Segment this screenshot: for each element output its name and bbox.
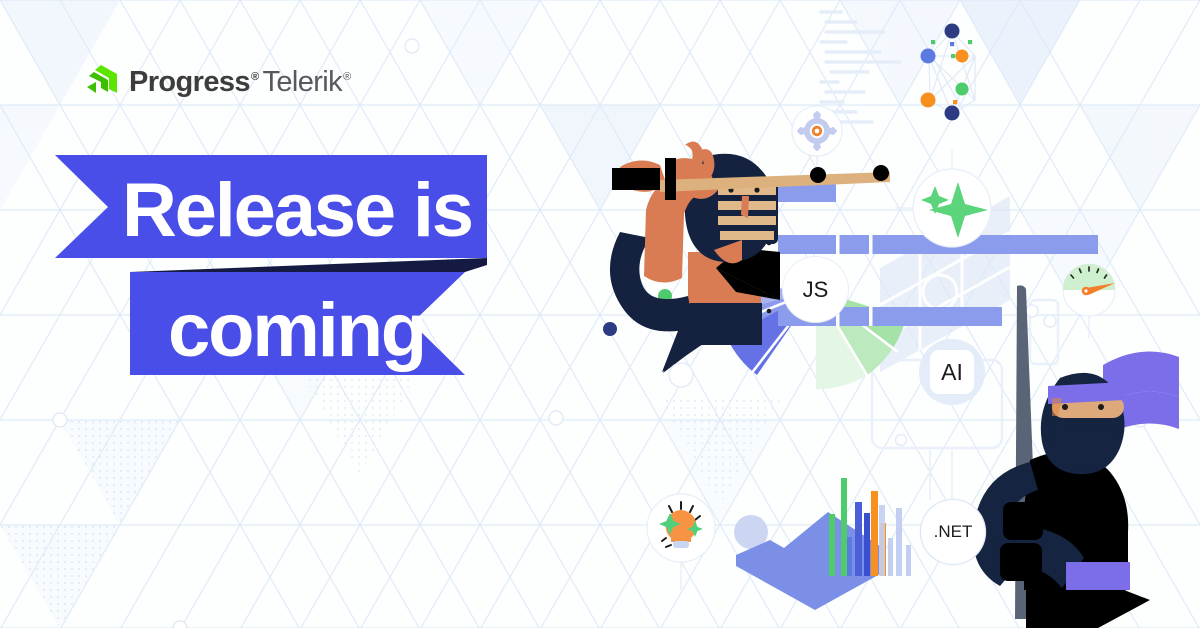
logo-word-progress: Progress <box>129 68 250 97</box>
logo-word-telerik: Telerik <box>262 68 342 97</box>
progress-chevron-logo-mark <box>84 64 120 100</box>
logo-registered-2: ® <box>343 72 351 83</box>
logo-registered-1: ® <box>251 72 259 83</box>
logo-wordmark: Progress®Telerik® <box>129 68 351 97</box>
ribbon-headline-line-1: Release is <box>122 173 472 249</box>
progress-telerik-logo[interactable]: Progress®Telerik® <box>84 64 351 100</box>
release-is-coming-banner: #ribbon polygon[data-name="ribbon-band-t… <box>0 0 1200 628</box>
ribbon-headline-line-2: coming <box>168 293 425 369</box>
